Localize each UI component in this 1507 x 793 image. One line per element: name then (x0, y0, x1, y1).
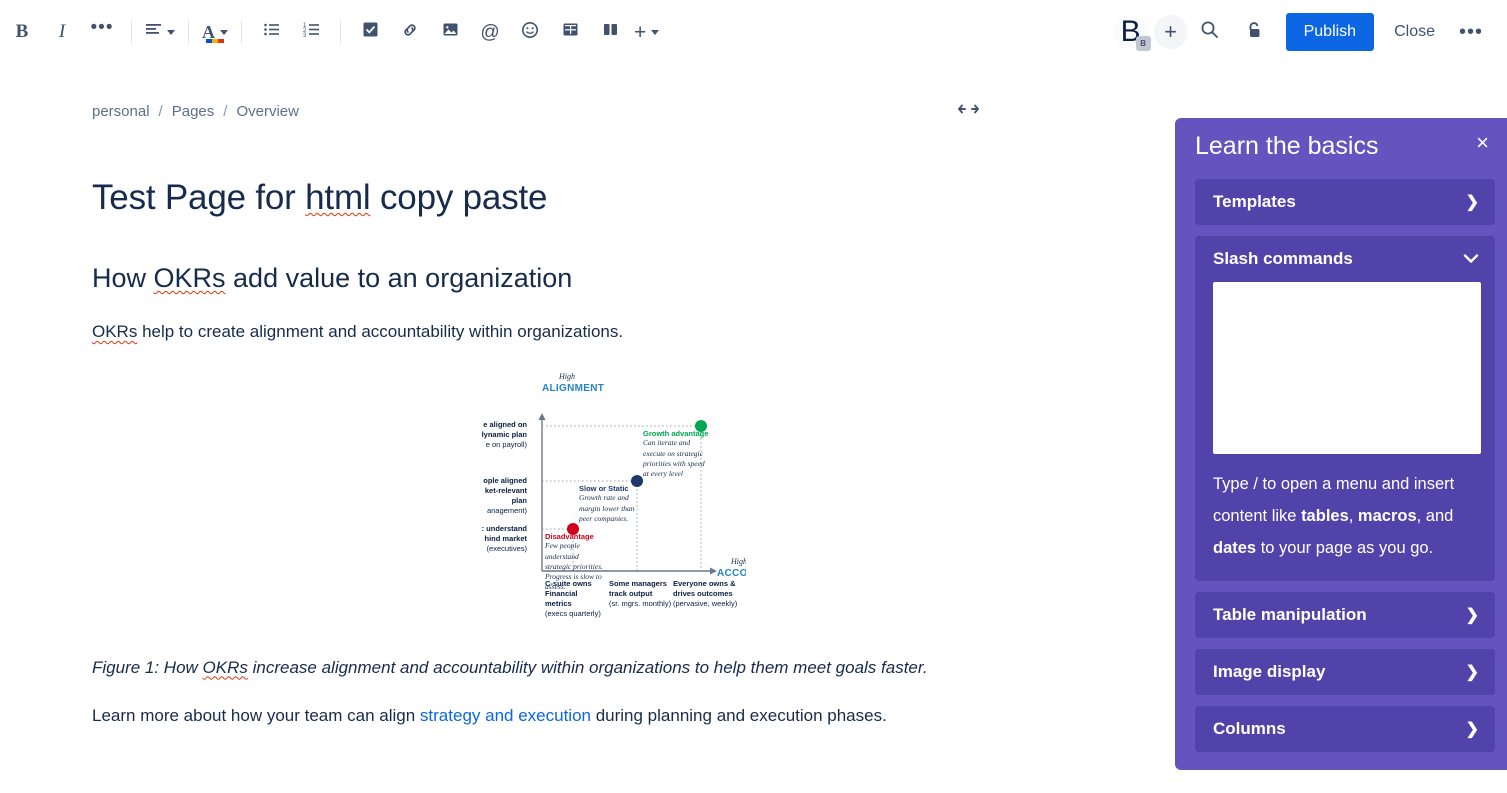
chevron-right-icon: ❯ (1466, 719, 1479, 739)
search-icon (1200, 20, 1219, 44)
avatar[interactable]: B B (1114, 12, 1162, 52)
more-formatting-button[interactable]: ••• (85, 15, 119, 49)
slash-commands-description: Type / to open a menu and insert content… (1195, 468, 1495, 565)
figure-caption[interactable]: Figure 1: How OKRs increase alignment an… (92, 658, 1100, 678)
restrictions-button[interactable] (1236, 14, 1272, 50)
y-tick-line1: e aligned on (446, 420, 527, 430)
avatar-initial: B B (1114, 15, 1148, 49)
desc-bold-dates: dates (1213, 539, 1256, 557)
caption-part1: Figure 1: How (92, 658, 203, 677)
toolbar-divider (241, 21, 242, 43)
heading-part2: add value to an organization (226, 263, 573, 293)
panel-item-label: Templates (1213, 192, 1296, 212)
toolbar-divider (188, 21, 189, 43)
panel-title: Learn the basics (1195, 132, 1378, 161)
y-tick-note: anagement) (446, 506, 527, 516)
annotation-desc: Growth rate and margin lower than peer c… (579, 493, 637, 523)
desc-bold-tables: tables (1301, 507, 1349, 525)
toolbar-left-group: B I ••• A (0, 15, 663, 49)
numbered-list-button[interactable]: 1 2 3 (294, 15, 328, 49)
desc-part2: , (1349, 507, 1358, 525)
learn-the-basics-panel: Learn the basics × Templates ❯ Slash com… (1175, 118, 1507, 770)
heading-part1: How (92, 263, 154, 293)
link-button[interactable] (393, 15, 427, 49)
bullet-list-icon (263, 21, 280, 43)
y-tick-line1: : understand (446, 524, 527, 534)
learn-more-paragraph[interactable]: Learn more about how your team can align… (92, 704, 1100, 729)
okr-quadrant-chart[interactable]: High ALIGNMENT High ACCOUNTABILITY (446, 369, 746, 624)
desc-part3: , and (1417, 507, 1454, 525)
panel-item-table-manipulation[interactable]: Table manipulation ❯ (1195, 592, 1495, 638)
page-more-actions-button[interactable]: ••• (1449, 28, 1493, 36)
panel-section-header[interactable]: Slash commands (1195, 236, 1495, 282)
bullet-list-button[interactable] (254, 15, 288, 49)
insert-more-button[interactable]: + (630, 15, 663, 49)
y-tick-label: e aligned on lynamic plan e on payroll) (446, 420, 527, 450)
editor-toolbar: B I ••• A (0, 0, 1507, 64)
avatar-badge: B (1136, 36, 1151, 51)
chart-canvas: High ALIGNMENT High ACCOUNTABILITY (446, 369, 746, 624)
annotation-growth-advantage: Growth advantage Can iterate and execute… (643, 429, 709, 479)
page-width-toggle-button[interactable] (958, 102, 984, 121)
annotation-slow-or-static: Slow or Static Growth rate and margin lo… (579, 484, 637, 524)
chevron-right-icon: ❯ (1466, 662, 1479, 682)
chevron-down-icon (220, 30, 228, 35)
svg-text:3: 3 (303, 33, 307, 38)
intro-misspelled: OKRs (92, 322, 137, 341)
link-icon (401, 21, 419, 44)
page-title-part1: Test Page for (92, 178, 305, 217)
y-tick-label: : understand hind market (executives) (446, 524, 527, 554)
y-tick-line1: ople aligned (446, 476, 527, 486)
caption-misspelled: OKRs (203, 658, 248, 677)
y-tick-note: e on payroll) (446, 440, 527, 450)
chevron-right-icon: ❯ (1466, 605, 1479, 625)
text-color-button[interactable]: A (198, 15, 232, 49)
breadcrumb: personal / Pages / Overview (92, 103, 299, 120)
annotation-desc: Can iterate and execute on strategic pri… (643, 438, 709, 479)
panel-item-label: Image display (1213, 662, 1325, 682)
x-tick-note: (execs quarterly) (545, 609, 623, 619)
page-title[interactable]: Test Page for html copy paste (92, 178, 1100, 218)
x-tick-note: (pervasive, weekly) (673, 599, 746, 609)
bold-button[interactable]: B (5, 15, 39, 49)
mention-at-icon: @ (480, 23, 499, 42)
left-right-arrows-icon (958, 102, 984, 121)
breadcrumb-item-overview[interactable]: Overview (236, 103, 299, 120)
breadcrumb-separator: / (159, 103, 163, 120)
chevron-down-icon (1463, 251, 1479, 268)
columns-icon (602, 21, 619, 43)
table-icon (562, 21, 579, 43)
figure-container: High ALIGNMENT High ACCOUNTABILITY (92, 369, 1100, 624)
chevron-down-icon (651, 30, 659, 35)
panel-section-label: Slash commands (1213, 249, 1353, 269)
page-content: personal / Pages / Overview Test Page fo… (0, 64, 1160, 793)
page-title-misspelled: html (305, 178, 370, 217)
y-tick-line2: ket-relevant (446, 486, 527, 496)
slash-commands-demo-media[interactable] (1213, 282, 1481, 454)
desc-part4: to your page as you go. (1256, 539, 1433, 557)
text-alignment-button[interactable] (141, 15, 179, 49)
panel-item-image-display[interactable]: Image display ❯ (1195, 649, 1495, 695)
toolbar-divider (131, 21, 132, 43)
table-button[interactable] (553, 15, 587, 49)
unlock-icon (1244, 20, 1264, 45)
desc-bold-macros: macros (1358, 507, 1417, 525)
task-list-button[interactable] (353, 15, 387, 49)
color-swatch-icon (206, 39, 224, 43)
emoji-icon (521, 21, 539, 44)
image-button[interactable] (433, 15, 467, 49)
learn-more-part2: during planning and execution phases. (591, 706, 887, 725)
y-tick-line2: lynamic plan (446, 430, 527, 440)
toolbar-right-group: B B + Publish Close ••• (1114, 12, 1507, 52)
x-tick-line2: drives outcomes (673, 589, 746, 599)
learn-more-part1: Learn more about how your team can align (92, 706, 420, 725)
close-icon[interactable]: × (1476, 132, 1489, 154)
publish-button[interactable]: Publish (1286, 13, 1374, 51)
breadcrumb-separator: / (223, 103, 227, 120)
image-icon (442, 21, 459, 43)
section-heading[interactable]: How OKRs add value to an organization (92, 263, 1100, 294)
numbered-list-icon: 1 2 3 (303, 21, 320, 43)
caption-part2: increase alignment and accountability wi… (248, 658, 928, 677)
align-left-icon (145, 21, 162, 43)
search-button[interactable] (1192, 14, 1228, 50)
plus-icon: + (634, 22, 646, 43)
panel-item-templates[interactable]: Templates ❯ (1195, 179, 1495, 225)
strategy-execution-link[interactable]: strategy and execution (420, 706, 591, 725)
panel-header: Learn the basics × (1195, 132, 1495, 161)
breadcrumb-item-space[interactable]: personal (92, 103, 150, 120)
y-tick-line2: hind market (446, 534, 527, 544)
annotation-title: Slow or Static (579, 484, 637, 494)
close-button[interactable]: Close (1380, 13, 1449, 51)
breadcrumb-row: personal / Pages / Overview (92, 100, 1100, 122)
x-tick-label: Everyone owns & drives outcomes (pervasi… (673, 579, 746, 609)
emoji-button[interactable] (513, 15, 547, 49)
chevron-right-icon: ❯ (1466, 192, 1479, 212)
mention-button[interactable]: @ (473, 15, 507, 49)
annotation-title: Growth advantage (643, 429, 709, 439)
panel-section-slash-commands: Slash commands Type / to open a menu and… (1195, 236, 1495, 581)
panel-item-columns[interactable]: Columns ❯ (1195, 706, 1495, 752)
intro-rest: help to create alignment and accountabil… (137, 322, 623, 341)
y-tick-note: (executives) (446, 544, 527, 554)
x-tick-line1: Everyone owns & (673, 579, 746, 589)
panel-item-label: Columns (1213, 719, 1286, 739)
checkbox-icon (362, 21, 379, 43)
y-tick-line3: plan (446, 496, 527, 506)
y-tick-label: ople aligned ket-relevant plan anagement… (446, 476, 527, 517)
chevron-down-icon (167, 30, 175, 35)
breadcrumb-item-pages[interactable]: Pages (172, 103, 215, 120)
page-title-part2: copy paste (370, 178, 547, 217)
panel-item-label: Table manipulation (1213, 605, 1367, 625)
annotation-title: Disadvantage (545, 532, 603, 542)
italic-button[interactable]: I (45, 15, 79, 49)
intro-paragraph[interactable]: OKRs help to create alignment and accoun… (92, 320, 1100, 345)
toolbar-divider (340, 21, 341, 43)
layouts-button[interactable] (593, 15, 627, 49)
heading-misspelled: OKRs (154, 263, 226, 293)
